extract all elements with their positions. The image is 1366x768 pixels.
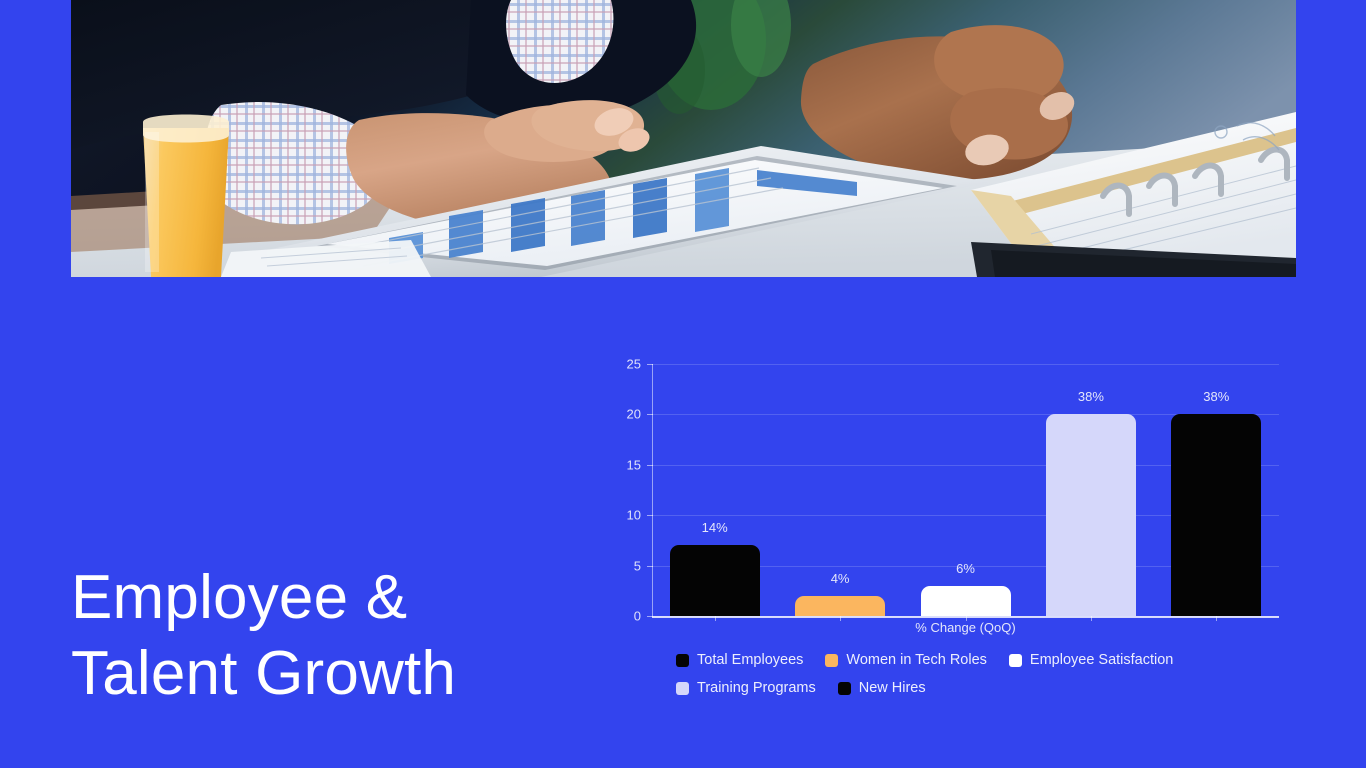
chart-legend: Total EmployeesWomen in Tech RolesEmploy… — [676, 646, 1276, 702]
chart-plot-area: 0510152025 14%4%6%38%38% — [652, 364, 1279, 616]
page-title: Employee & Talent Growth — [71, 560, 591, 712]
hero-photo — [71, 0, 1296, 277]
y-axis-tick — [647, 566, 653, 567]
legend-row-1: Total EmployeesWomen in Tech RolesEmploy… — [676, 646, 1276, 674]
y-axis-tick — [647, 364, 653, 365]
y-axis-tick-label: 10 — [627, 508, 641, 523]
legend-item-training-programs[interactable]: Training Programs — [676, 680, 816, 696]
bar-women-in-tech-roles[interactable] — [795, 596, 885, 616]
x-axis-title: % Change (QoQ) — [652, 620, 1279, 635]
x-axis-line — [652, 616, 1279, 618]
legend-swatch-icon — [676, 682, 689, 695]
y-axis-tick-label: 5 — [634, 558, 641, 573]
y-axis-tick-label: 25 — [627, 357, 641, 372]
legend-swatch-icon — [676, 654, 689, 667]
bar-value-label: 38% — [1078, 389, 1104, 404]
legend-label: Total Employees — [697, 652, 803, 668]
y-axis-tick-label: 20 — [627, 407, 641, 422]
bar-value-label: 4% — [831, 571, 850, 586]
bar-new-hires[interactable] — [1171, 414, 1261, 616]
y-axis-tick — [647, 465, 653, 466]
legend-label: Employee Satisfaction — [1030, 652, 1173, 668]
y-axis-line — [652, 364, 653, 616]
legend-label: New Hires — [859, 680, 926, 696]
legend-swatch-icon — [838, 682, 851, 695]
bar-training-programs[interactable] — [1046, 414, 1136, 616]
hero-photograph — [71, 0, 1296, 277]
legend-label: Training Programs — [697, 680, 816, 696]
bar-employee-satisfaction[interactable] — [921, 586, 1011, 616]
legend-item-women-in-tech-roles[interactable]: Women in Tech Roles — [825, 652, 987, 668]
y-axis-tick — [647, 515, 653, 516]
bar-total-employees[interactable] — [670, 545, 760, 616]
y-axis-tick-label: 0 — [634, 609, 641, 624]
legend-swatch-icon — [825, 654, 838, 667]
bar-value-label: 6% — [956, 561, 975, 576]
legend-label: Women in Tech Roles — [846, 652, 987, 668]
legend-swatch-icon — [1009, 654, 1022, 667]
bar-value-label: 14% — [702, 520, 728, 535]
y-axis-tick-label: 15 — [627, 457, 641, 472]
legend-row-2: Training ProgramsNew Hires — [676, 674, 1276, 702]
bar-value-label: 38% — [1203, 389, 1229, 404]
legend-item-new-hires[interactable]: New Hires — [838, 680, 926, 696]
legend-item-total-employees[interactable]: Total Employees — [676, 652, 803, 668]
gridline — [652, 364, 1279, 365]
page-title-line-1: Employee & — [71, 560, 591, 636]
y-axis-tick — [647, 414, 653, 415]
page-title-line-2: Talent Growth — [71, 636, 591, 712]
legend-item-employee-satisfaction[interactable]: Employee Satisfaction — [1009, 652, 1173, 668]
